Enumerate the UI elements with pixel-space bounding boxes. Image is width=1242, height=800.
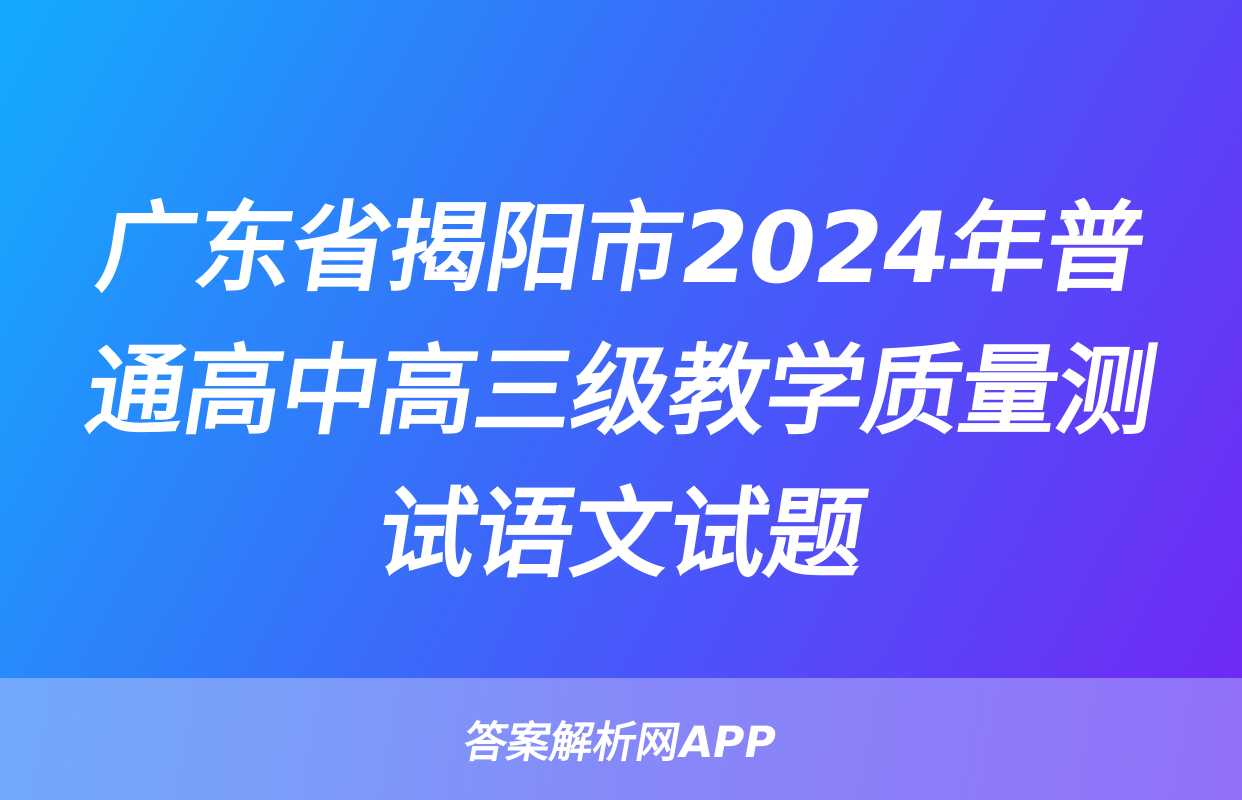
page-title: 广东省揭阳市2024年普 通高中高三级教学质量测 试语文试题 [0,178,1242,607]
title-line-1: 广东省揭阳市2024年普 [33,178,1210,321]
cover-card: 广东省揭阳市2024年普 通高中高三级教学质量测 试语文试题 答案解析网APP [0,0,1242,800]
watermark-band: 答案解析网APP [0,678,1242,800]
title-line-3: 试语文试题 [33,464,1210,607]
watermark-label: 答案解析网APP [460,708,782,770]
title-line-2: 通高中高三级教学质量测 [33,321,1210,464]
